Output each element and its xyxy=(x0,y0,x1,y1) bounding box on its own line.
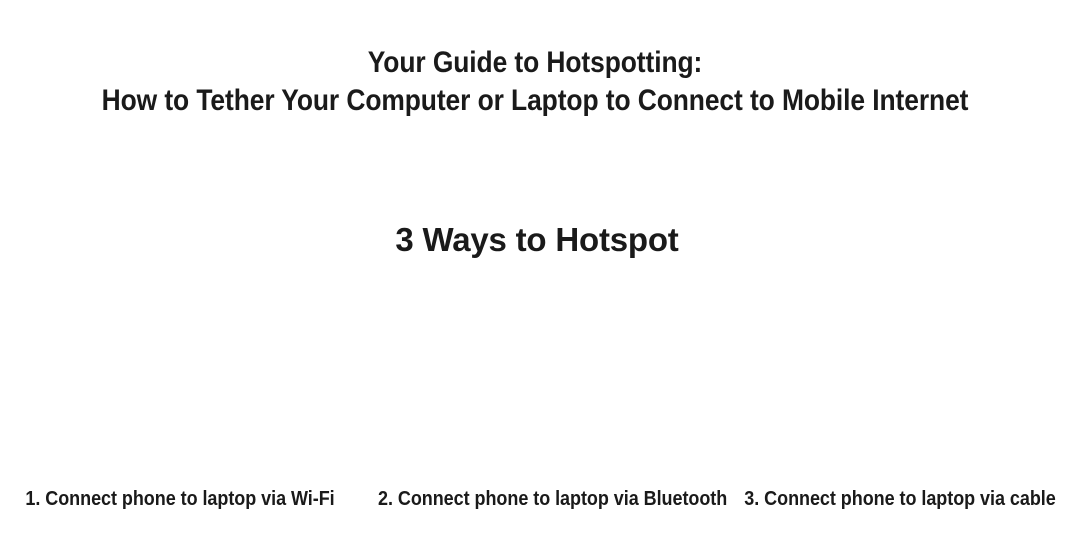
page-title-line-1: Your Guide to Hotspotting: xyxy=(64,44,1006,82)
caption-method-3: 3. Connect phone to laptop via cable xyxy=(738,486,1062,512)
illustration-method-1 xyxy=(0,285,360,475)
section-heading: 3 Ways to Hotspot xyxy=(0,220,1080,260)
illustration-method-3 xyxy=(720,285,1080,475)
page-title-line-2: How to Tether Your Computer or Laptop to… xyxy=(64,82,1006,120)
caption-row: 1. Connect phone to laptop via Wi-Fi 2. … xyxy=(0,486,1080,516)
page-title: Your Guide to Hotspotting: How to Tether… xyxy=(0,44,1080,120)
infographic-canvas: Your Guide to Hotspotting: How to Tether… xyxy=(0,0,1080,552)
caption-method-2: 2. Connect phone to laptop via Bluetooth xyxy=(378,486,702,512)
caption-method-1: 1. Connect phone to laptop via Wi-Fi xyxy=(18,486,342,512)
illustration-method-2 xyxy=(360,285,720,475)
illustration-band xyxy=(0,285,1080,475)
